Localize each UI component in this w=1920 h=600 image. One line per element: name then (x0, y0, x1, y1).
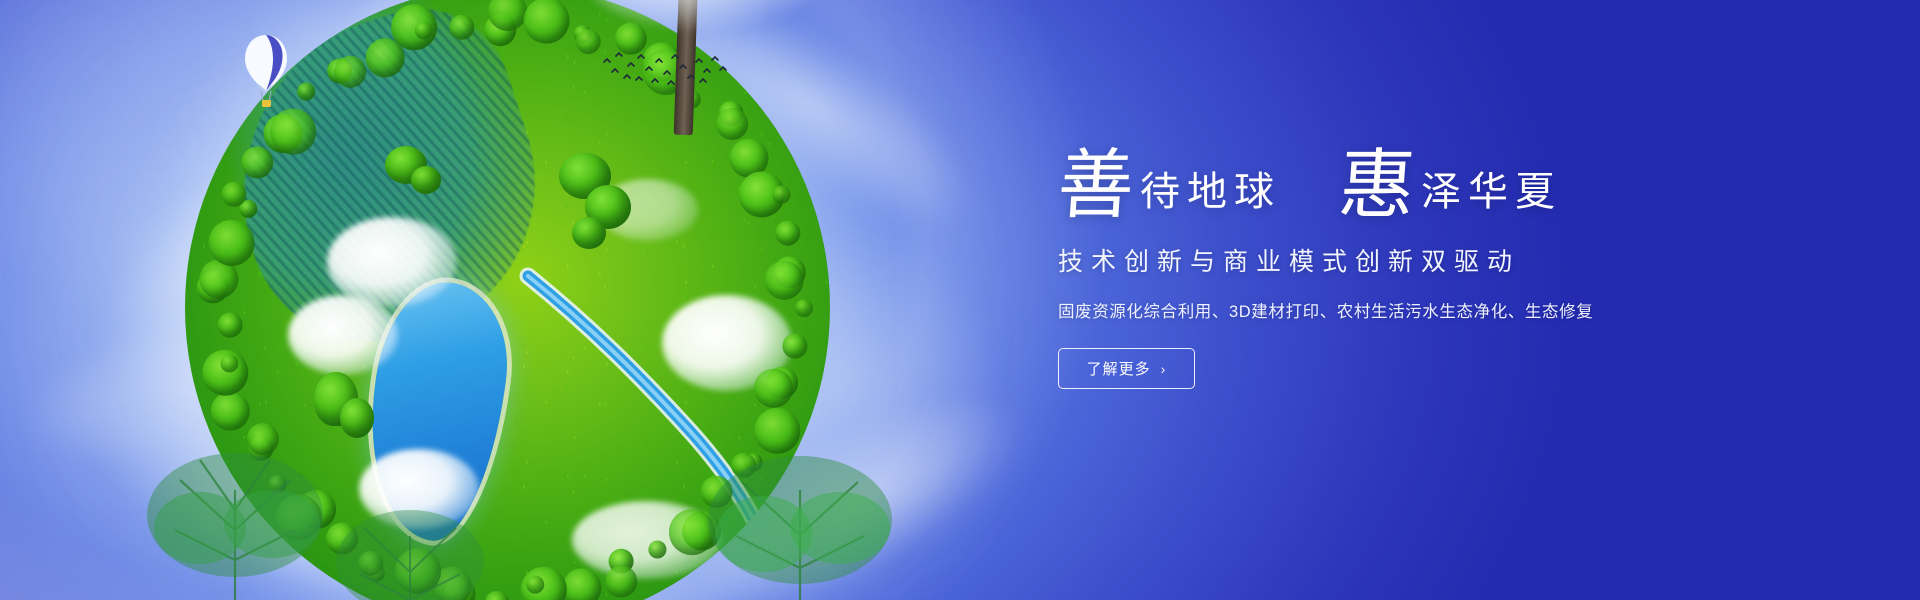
rim-tree (775, 221, 800, 246)
headline-rest-2: 泽华夏 (1421, 172, 1562, 212)
rim-tree (648, 540, 666, 558)
rim-tree (700, 475, 732, 507)
rim-tree (241, 146, 273, 178)
rim-tree (199, 260, 238, 299)
rim-tree (731, 453, 756, 478)
rim-tree (246, 423, 278, 455)
rim-tree (795, 299, 813, 317)
rim-tree (208, 219, 254, 265)
chevron-right-icon: › (1161, 361, 1167, 377)
rim-tree (772, 185, 790, 203)
rim-tree (270, 108, 316, 154)
rim-tree (562, 568, 601, 600)
bird-flock-icon (600, 48, 730, 90)
rim-tree (754, 369, 793, 408)
page-title: 善 待地球 惠 泽华夏 (1058, 128, 1818, 220)
rim-tree (668, 509, 714, 555)
tree-clump (411, 166, 441, 194)
hero-banner: 善 待地球 惠 泽华夏 技术创新与商业模式创新双驱动 固废资源化综合利用、3D建… (0, 0, 1920, 600)
rim-tree (211, 392, 250, 431)
headline-rest-1: 待地球 (1140, 172, 1281, 212)
learn-more-button[interactable]: 了解更多 › (1058, 348, 1195, 389)
rim-tree (275, 494, 321, 540)
planet-cloud (288, 295, 398, 375)
hot-air-balloon-icon (243, 33, 289, 113)
rim-tree (297, 82, 315, 100)
hero-subtitle: 技术创新与商业模式创新双驱动 (1058, 242, 1818, 278)
learn-more-label: 了解更多 (1087, 358, 1151, 379)
rim-tree (414, 21, 432, 39)
rim-tree (326, 522, 358, 554)
rim-tree (526, 575, 544, 593)
rim-tree (222, 182, 247, 207)
headline-char-1: 善 (1056, 150, 1137, 220)
rim-tree (220, 354, 238, 372)
rim-tree (716, 108, 748, 140)
headline-char-2: 惠 (1337, 150, 1418, 220)
hero-copy: 善 待地球 惠 泽华夏 技术创新与商业模式创新双驱动 固废资源化综合利用、3D建… (1058, 128, 1818, 389)
rim-tree (605, 565, 637, 597)
rim-tree (782, 334, 807, 359)
tree-clump (340, 398, 374, 438)
planet-cloud (359, 449, 479, 529)
tree-clump (572, 217, 606, 249)
rim-tree (395, 548, 441, 594)
rim-tree (449, 15, 474, 40)
hero-detail-list: 固废资源化综合利用、3D建材打印、农村生活污水生态净化、生态修复 (1058, 298, 1818, 322)
rim-tree (754, 407, 800, 453)
planet-cloud (327, 217, 457, 307)
rim-tree (682, 90, 700, 108)
rim-tree (268, 475, 286, 493)
rim-tree (765, 261, 804, 300)
rim-tree (218, 313, 243, 338)
rim-tree (576, 29, 601, 54)
rim-tree (358, 551, 383, 576)
rim-tree (334, 55, 366, 87)
